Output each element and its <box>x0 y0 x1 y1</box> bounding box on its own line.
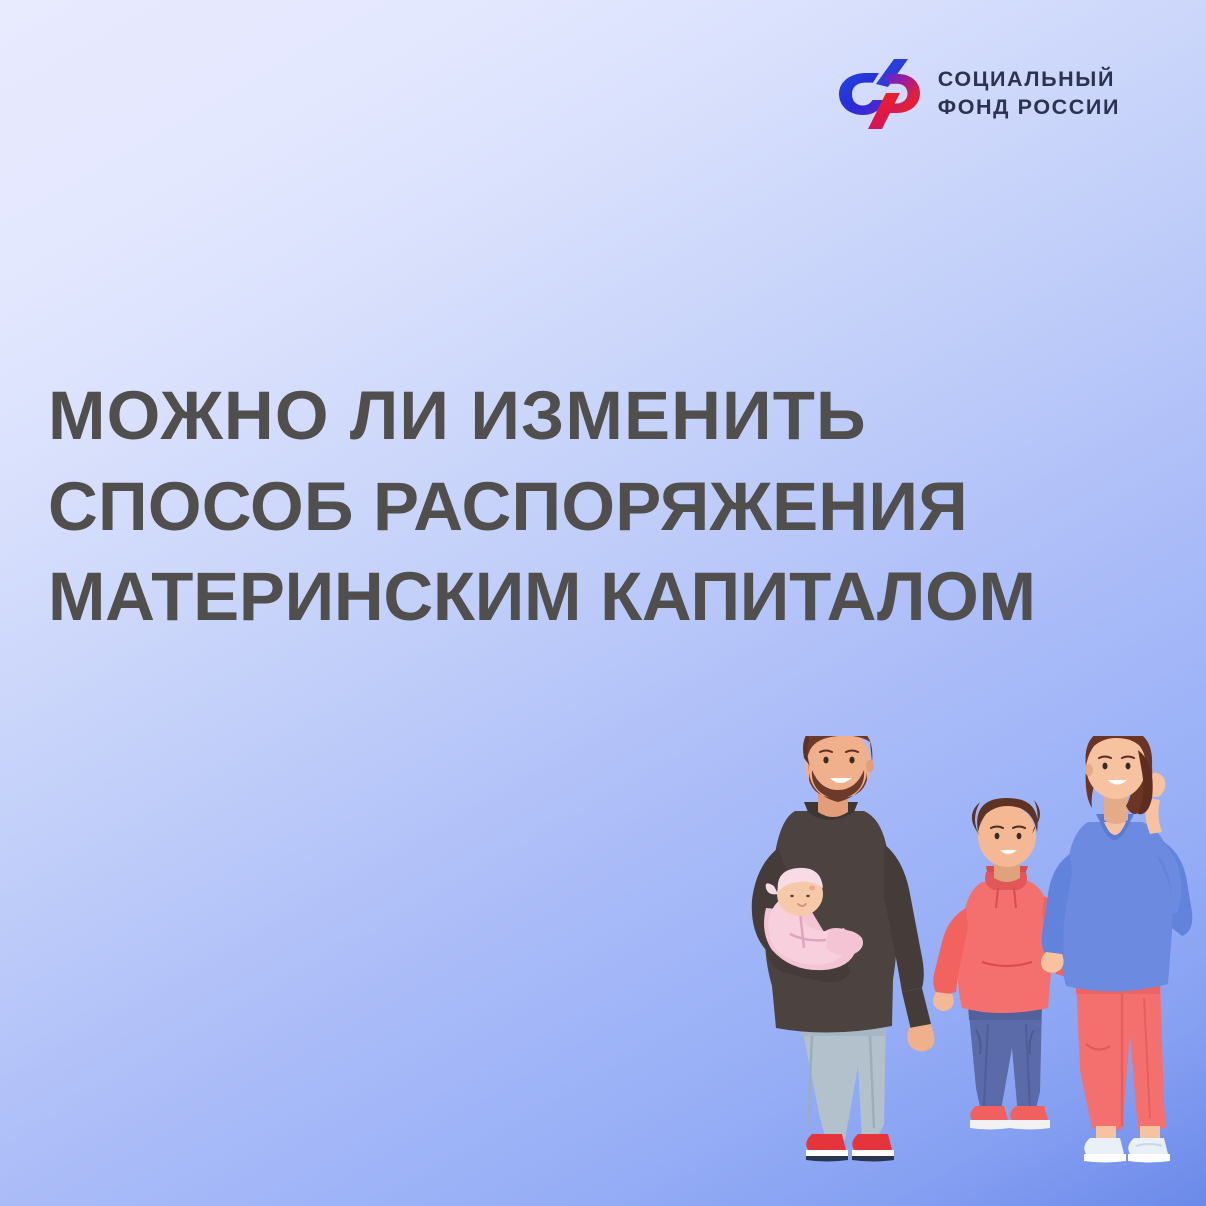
figure-mother <box>1041 736 1192 1163</box>
poster-title-line-1: МОЖНО ЛИ ИЗМЕНИТЬ <box>48 371 1188 461</box>
figure-baby <box>764 868 863 982</box>
sfr-logo-line-2: ФОНД РОССИИ <box>938 94 1120 122</box>
poster-title: МОЖНО ЛИ ИЗМЕНИТЬ СПОСОБ РАСПОРЯЖЕНИЯ МА… <box>48 371 1188 642</box>
poster-title-line-2: СПОСОБ РАСПОРЯЖЕНИЯ <box>48 462 1188 552</box>
poster-title-line-3: МАТЕРИНСКИМ КАПИТАЛОМ <box>48 552 1188 642</box>
poster-canvas: СОЦИАЛЬНЫЙ ФОНД РОССИИ МОЖНО ЛИ ИЗМЕНИТЬ… <box>0 0 1206 1206</box>
family-illustration <box>0 736 1206 1206</box>
figure-father <box>752 736 935 1162</box>
sfr-logo-text: СОЦИАЛЬНЫЙ ФОНД РОССИИ <box>938 66 1120 121</box>
figure-child <box>933 798 1076 1130</box>
sfr-monogram-icon <box>836 57 922 131</box>
sfr-logo-line-1: СОЦИАЛЬНЫЙ <box>938 67 1115 91</box>
sfr-logo[interactable]: СОЦИАЛЬНЫЙ ФОНД РОССИИ <box>836 57 1120 131</box>
